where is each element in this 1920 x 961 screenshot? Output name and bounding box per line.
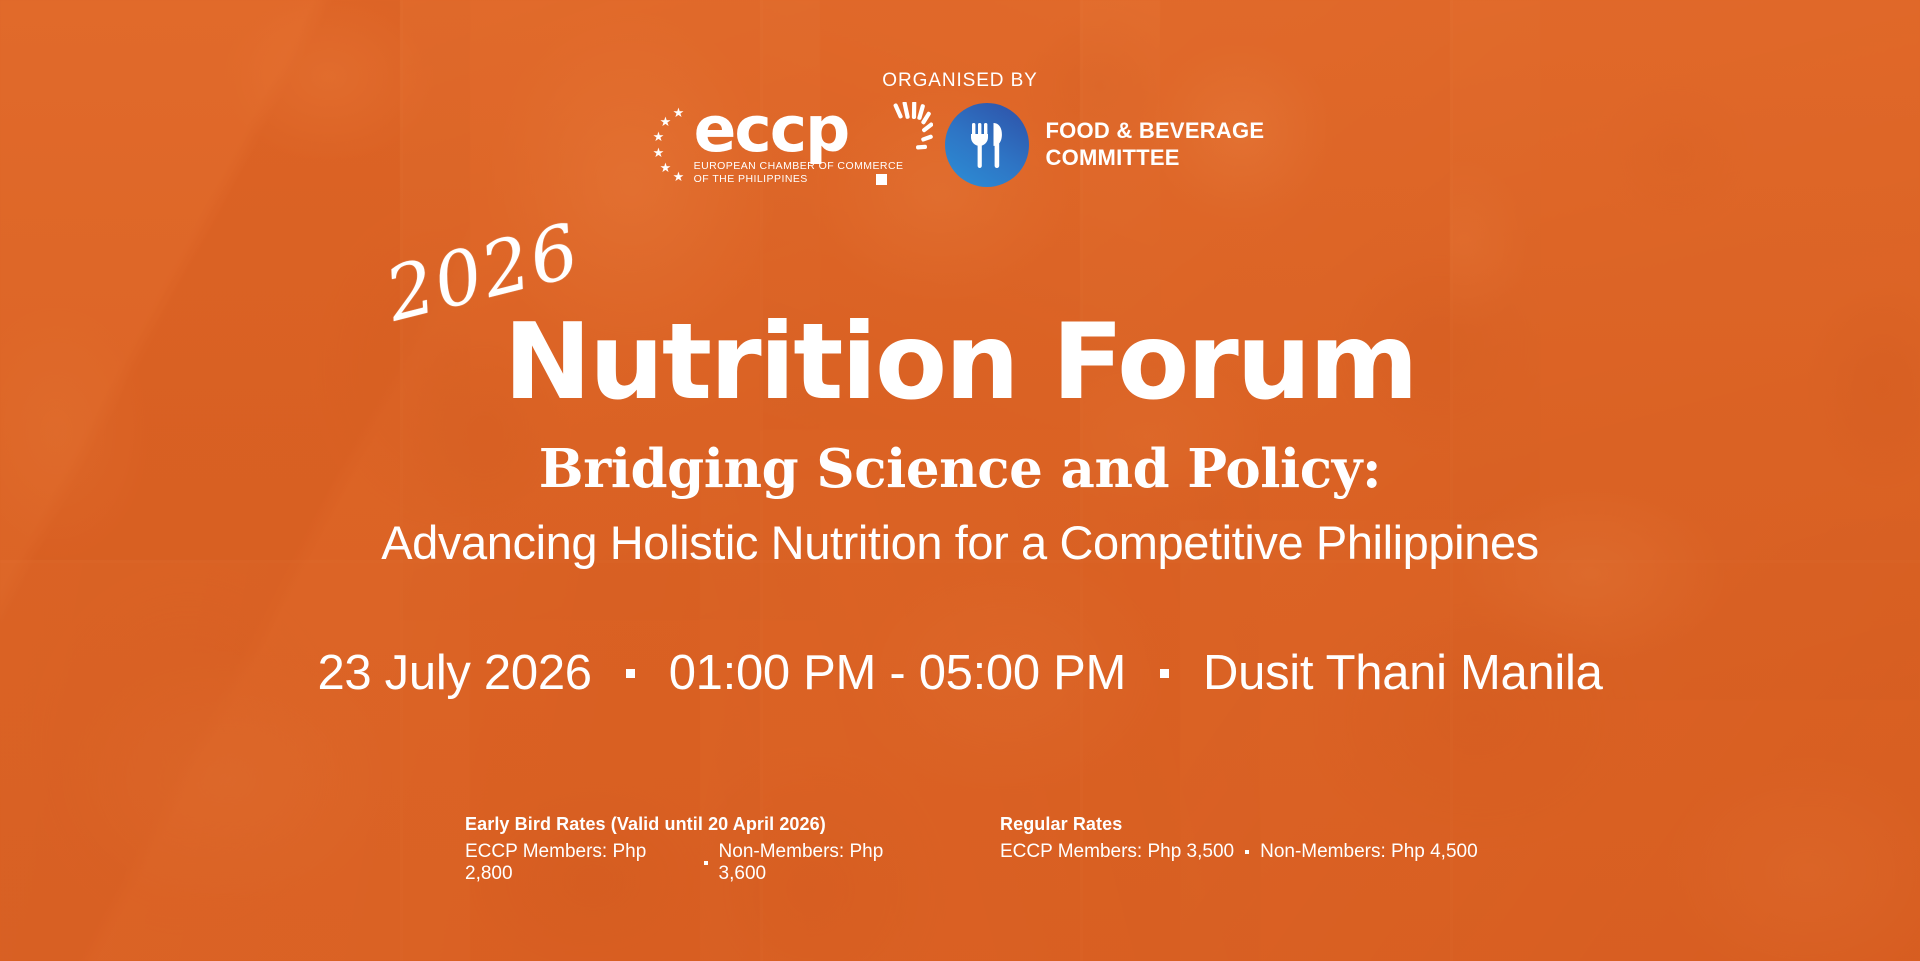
early-bird-nonmember-price: Non-Members: Php 3,600 (719, 841, 930, 885)
regular-rates-title: Regular Rates (1000, 814, 1478, 835)
separator-dot-icon (704, 861, 708, 865)
eccp-tagline: EUROPEAN CHAMBER OF COMMERCE OF THE PHIL… (694, 160, 904, 186)
event-venue: Dusit Thani Manila (1203, 645, 1603, 701)
separator-dot-icon (1245, 850, 1249, 854)
event-date: 23 July 2026 (317, 645, 591, 701)
event-subtitle-primary: Bridging Science and Policy: (0, 443, 1920, 496)
event-subtitle-secondary: Advancing Holistic Nutrition for a Compe… (0, 515, 1920, 570)
organiser-logo-row: ★ ★ ★ ★ ★ ★ eccp EUROPEAN CHAMBER OF COM… (0, 103, 1920, 187)
regular-member-price: ECCP Members: Php 3,500 (1000, 841, 1234, 863)
organised-by-label: ORGANISED BY (0, 70, 1920, 92)
sun-rays-icon (887, 102, 933, 160)
event-details-row: 23 July 2026 01:00 PM - 05:00 PM Dusit T… (0, 645, 1920, 701)
eccp-square-mark (876, 174, 887, 185)
page-title: Nutrition Forum (0, 310, 1920, 415)
rates-section: Early Bird Rates (Valid until 20 April 2… (465, 814, 1478, 885)
early-bird-member-price: ECCP Members: Php 2,800 (465, 841, 693, 885)
regular-prices: ECCP Members: Php 3,500 Non-Members: Php… (1000, 841, 1478, 863)
separator-dot-icon (626, 669, 635, 678)
eccp-wordmark: eccp (694, 104, 904, 156)
regular-rates: Regular Rates ECCP Members: Php 3,500 No… (1000, 814, 1478, 885)
early-bird-title: Early Bird Rates (Valid until 20 April 2… (465, 814, 930, 835)
separator-dot-icon (1160, 669, 1169, 678)
eu-stars-icon: ★ ★ ★ ★ ★ ★ (656, 104, 690, 180)
early-bird-rates: Early Bird Rates (Valid until 20 April 2… (465, 814, 930, 885)
committee-badge (945, 103, 1029, 187)
event-banner: ORGANISED BY ★ ★ ★ ★ ★ ★ eccp EUROPEAN C… (0, 0, 1920, 961)
fork-and-knife-icon (965, 120, 1009, 170)
regular-nonmember-price: Non-Members: Php 4,500 (1260, 841, 1478, 863)
food-beverage-committee-logo: FOOD & BEVERAGE COMMITTEE (945, 103, 1264, 187)
eccp-logo: ★ ★ ★ ★ ★ ★ eccp EUROPEAN CHAMBER OF COM… (656, 104, 904, 185)
early-bird-prices: ECCP Members: Php 2,800 Non-Members: Php… (465, 841, 930, 885)
event-time: 01:00 PM - 05:00 PM (669, 645, 1126, 701)
committee-name: FOOD & BEVERAGE COMMITTEE (1045, 118, 1264, 172)
